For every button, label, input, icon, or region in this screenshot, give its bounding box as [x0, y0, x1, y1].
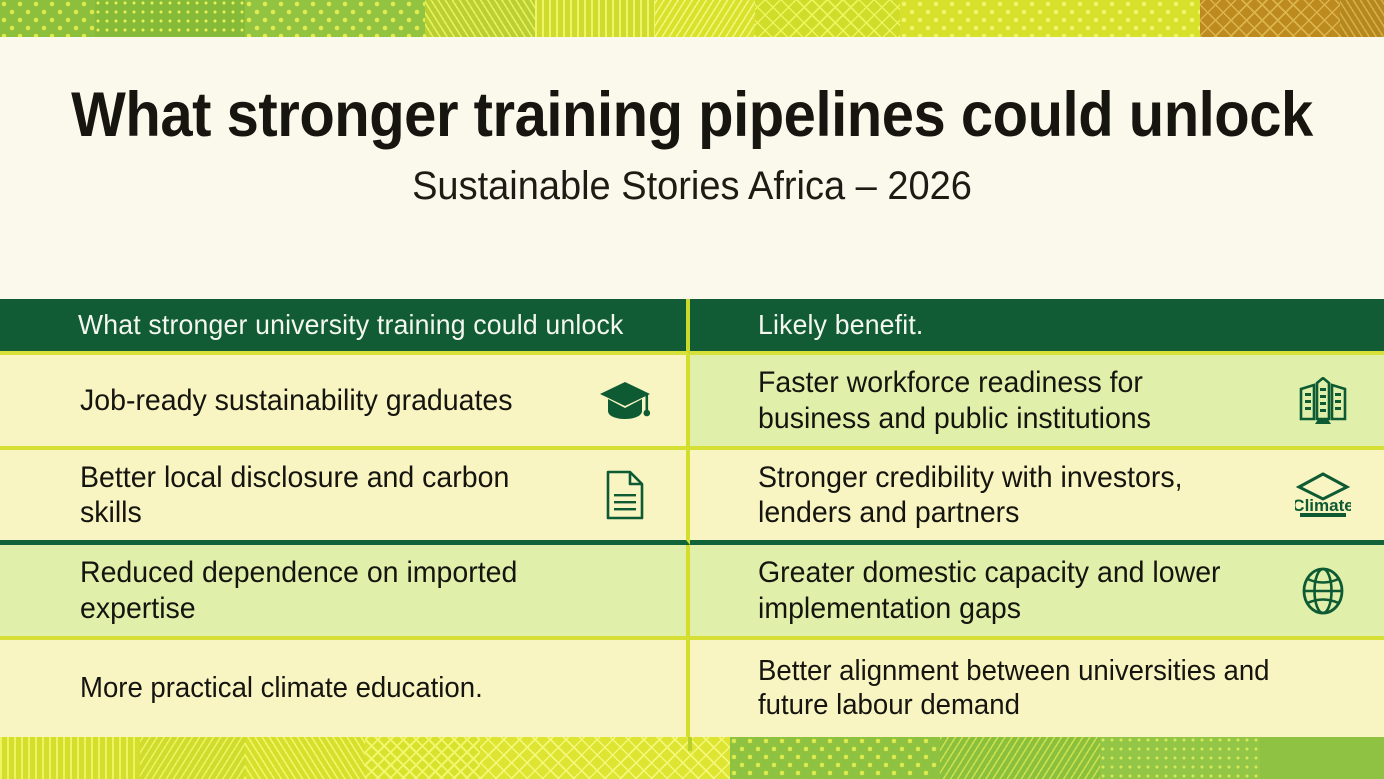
band-segment-yellow-hatch-rev — [655, 0, 755, 37]
band-segment-yellow-cross — [365, 737, 480, 779]
table-row: Job-ready sustainability graduates Faste… — [0, 355, 1384, 450]
band-segment-green-dots-dense — [1100, 737, 1260, 779]
table-cell-benefit-4: Better alignment between universities an… — [690, 640, 1384, 737]
column-divider-tail — [688, 737, 692, 751]
table-cell-unlock-1: Job-ready sustainability graduates — [0, 355, 690, 450]
band-segment-green-dots — [730, 737, 940, 779]
band-segment-gold-diamond — [1200, 0, 1340, 37]
band-segment-yellow-dots — [900, 0, 1200, 37]
graduation-cap-icon — [594, 373, 656, 429]
table-cell-benefit-1: Faster workforce readiness for business … — [690, 355, 1384, 450]
title-block: What stronger training pipelines could u… — [0, 37, 1384, 299]
band-segment-yellow-diamond — [480, 737, 730, 779]
cell-text: Greater domestic capacity and lower impl… — [758, 555, 1265, 625]
band-segment-green-dots-dense — [95, 0, 245, 37]
cell-text: Better alignment between universities an… — [758, 655, 1332, 723]
band-segment-yellow-diamond — [755, 0, 900, 37]
cell-text: Better local disclosure and carbon skill… — [80, 460, 568, 530]
band-segment-yellow-hatch — [425, 0, 535, 37]
cell-text: Reduced dependence on imported expertise — [80, 555, 635, 625]
slide-title: What stronger training pipelines could u… — [55, 37, 1328, 148]
buildings-icon — [1292, 373, 1354, 429]
table-cell-unlock-4: More practical climate education. — [0, 640, 690, 737]
band-segment-green-dots-2 — [245, 0, 425, 37]
table-row: Better local disclosure and carbon skill… — [0, 450, 1384, 545]
table-row: More practical climate education. Better… — [0, 640, 1384, 737]
band-segment-yellow-vertical — [0, 737, 140, 779]
globe-icon — [1292, 563, 1354, 619]
climate-institution-icon: Climate — [1292, 467, 1354, 523]
slide-subtitle: Sustainable Stories Africa – 2026 — [35, 148, 1350, 208]
band-segment-gold-hatch — [1340, 0, 1384, 37]
table-header-cell-left: What stronger university training could … — [0, 299, 690, 355]
band-segment-yellow-hatch-rev — [140, 737, 245, 779]
band-segment-yellow-vertical — [535, 0, 655, 37]
svg-text:Climate: Climate — [1295, 496, 1351, 515]
cell-text: Faster workforce readiness for business … — [758, 365, 1265, 435]
table-header-cell-right: Likely benefit. — [690, 299, 1384, 355]
cell-text: More practical climate education. — [80, 672, 635, 706]
slide-canvas: What stronger training pipelines could u… — [0, 0, 1384, 779]
table-header-label-right: Likely benefit. — [758, 309, 924, 341]
table-cell-benefit-3: Greater domestic capacity and lower impl… — [690, 545, 1384, 640]
table-row: Reduced dependence on imported expertise… — [0, 545, 1384, 640]
table-cell-unlock-3: Reduced dependence on imported expertise — [0, 545, 690, 640]
bottom-decorative-band — [0, 737, 1384, 779]
table-header-row: What stronger university training could … — [0, 299, 1384, 355]
document-icon — [594, 467, 656, 523]
table-cell-benefit-2: Stronger credibility with investors, len… — [690, 450, 1384, 545]
table-header-label-left: What stronger university training could … — [78, 309, 623, 341]
band-segment-green-hatch — [940, 737, 1100, 779]
cell-text: Stronger credibility with investors, len… — [758, 460, 1265, 530]
cell-text: Job-ready sustainability graduates — [80, 383, 568, 418]
table-cell-unlock-2: Better local disclosure and carbon skill… — [0, 450, 690, 545]
comparison-table: What stronger university training could … — [0, 299, 1384, 737]
band-segment-yellow-hatch — [245, 737, 365, 779]
band-segment-green-dots — [0, 0, 95, 37]
band-segment-green-solid — [1260, 737, 1384, 779]
top-decorative-band — [0, 0, 1384, 37]
